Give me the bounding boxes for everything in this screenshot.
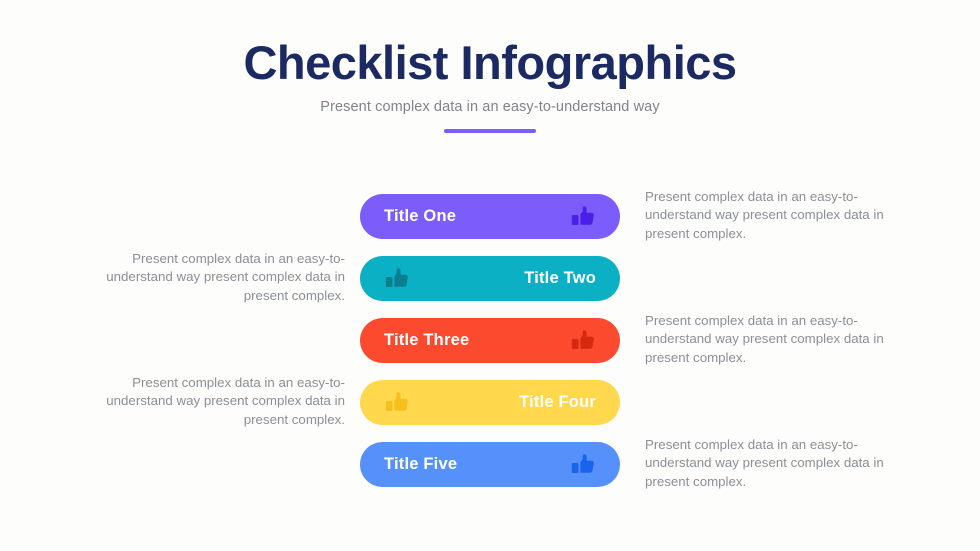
- checklist-bar-4[interactable]: Title Four: [360, 380, 620, 425]
- item-description: Present complex data in an easy-to-under…: [645, 436, 920, 493]
- checklist-rows: Present complex data in an easy-to-under…: [0, 194, 980, 504]
- thumbs-up-icon: [570, 328, 596, 354]
- checklist-row: Present complex data in an easy-to-under…: [0, 318, 980, 380]
- item-description: Present complex data in an easy-to-under…: [645, 188, 920, 245]
- checklist-bar-3[interactable]: Title Three: [360, 318, 620, 363]
- thumbs-up-icon: [384, 266, 410, 292]
- thumbs-up-icon: [384, 390, 410, 416]
- bar-title: Title One: [384, 207, 456, 226]
- checklist-row: Present complex data in an easy-to-under…: [0, 194, 980, 256]
- bar-title: Title Five: [384, 455, 457, 474]
- page-title: Checklist Infographics: [0, 38, 980, 87]
- bar-title: Title Four: [519, 393, 596, 412]
- checklist-row: Present complex data in an easy-to-under…: [0, 256, 980, 318]
- checklist-row: Present complex data in an easy-to-under…: [0, 442, 980, 504]
- slide-header: Checklist Infographics Present complex d…: [0, 38, 980, 133]
- accent-divider: [444, 129, 536, 133]
- bar-title: Title Two: [524, 269, 596, 288]
- checklist-bar-1[interactable]: Title One: [360, 194, 620, 239]
- page-subtitle: Present complex data in an easy-to-under…: [0, 99, 980, 115]
- thumbs-up-icon: [570, 452, 596, 478]
- item-description: Present complex data in an easy-to-under…: [70, 374, 345, 431]
- item-description: Present complex data in an easy-to-under…: [645, 312, 920, 369]
- checklist-bar-5[interactable]: Title Five: [360, 442, 620, 487]
- checklist-row: Present complex data in an easy-to-under…: [0, 380, 980, 442]
- checklist-bar-2[interactable]: Title Two: [360, 256, 620, 301]
- bar-title: Title Three: [384, 331, 469, 350]
- item-description: Present complex data in an easy-to-under…: [70, 250, 345, 307]
- infographic-slide: Checklist Infographics Present complex d…: [0, 0, 980, 551]
- thumbs-up-icon: [570, 204, 596, 230]
